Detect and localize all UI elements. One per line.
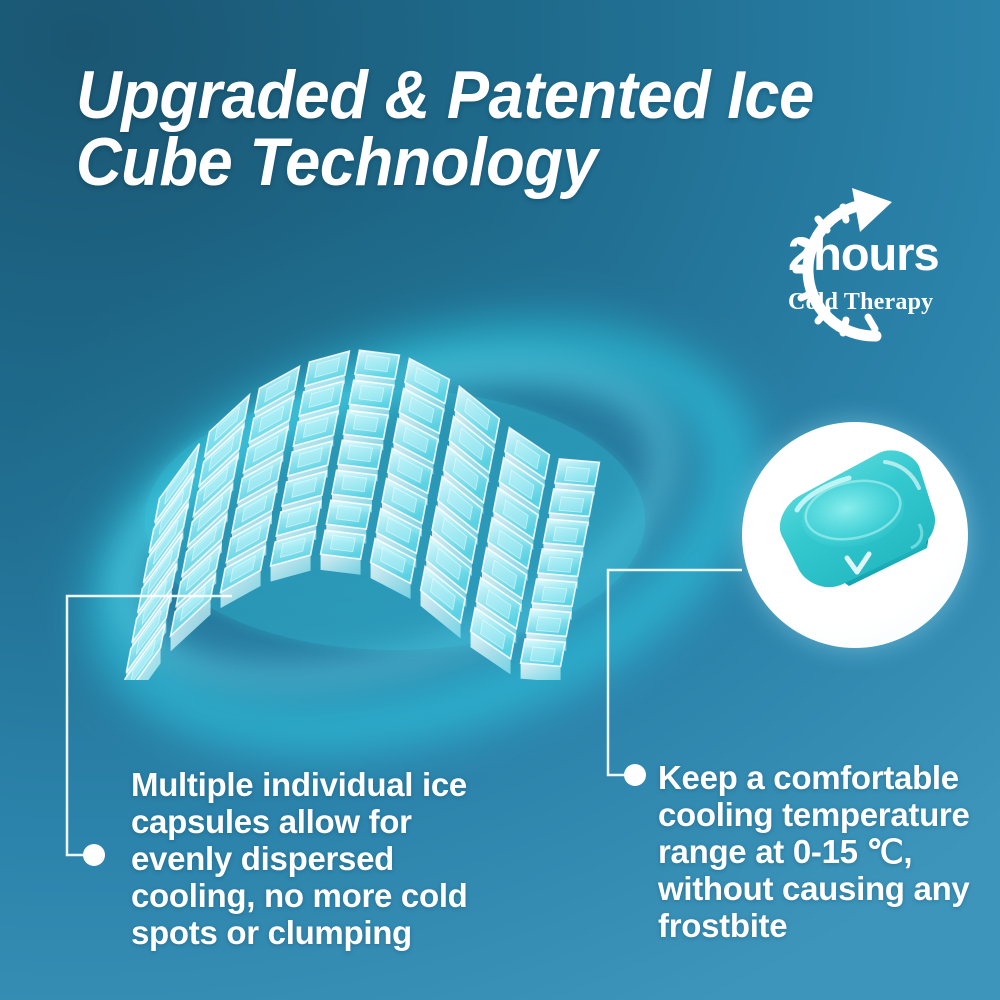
dot-marker-left bbox=[83, 844, 105, 866]
dot-marker-right bbox=[624, 764, 646, 786]
page-title: Upgraded & Patented Ice Cube Technology bbox=[76, 62, 894, 195]
callout-text-left: Multiple individual ice capsules allow f… bbox=[131, 767, 471, 952]
gel-ice-pack-image bbox=[95, 320, 675, 680]
cold-therapy-badge: 2hours Cold Therapy bbox=[726, 186, 970, 364]
therapy-duration: 2hours bbox=[788, 230, 968, 277]
therapy-subtitle: Cold Therapy bbox=[788, 290, 970, 314]
callout-text-right: Keep a comfortable cooling temperature r… bbox=[658, 760, 998, 945]
product-infographic: Upgraded & Patented Ice Cube Technology … bbox=[0, 0, 1000, 1000]
ice-cube-closeup-inset bbox=[742, 422, 968, 648]
